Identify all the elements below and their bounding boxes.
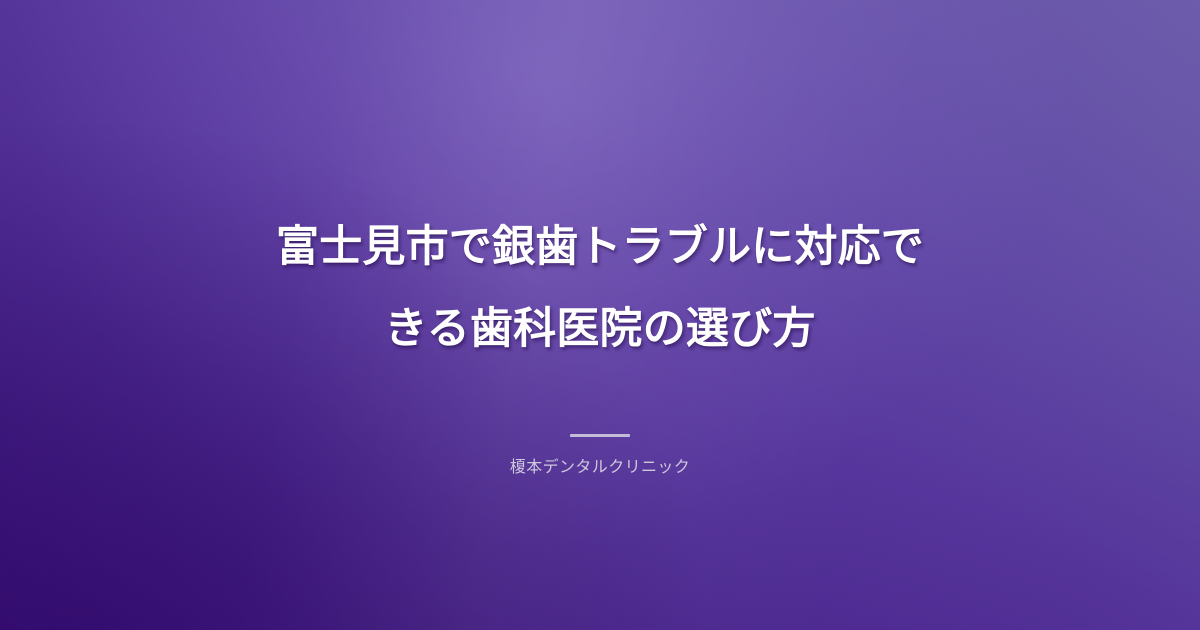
site-name: 榎本デンタルクリニック <box>510 457 690 479</box>
page-title: 富士見市で銀歯トラブルに対応で きる歯科医院の選び方 <box>200 0 1000 370</box>
page-title-line-1: 富士見市で銀歯トラブルに対応で <box>276 223 924 271</box>
page-title-line-2: きる歯科医院の選び方 <box>384 305 815 353</box>
og-card: 富士見市で銀歯トラブルに対応で きる歯科医院の選び方 榎本デンタルクリニック <box>0 0 1200 630</box>
card-footer: 榎本デンタルクリニック <box>510 434 690 479</box>
card-content: 富士見市で銀歯トラブルに対応で きる歯科医院の選び方 榎本デンタルクリニック <box>0 0 1200 630</box>
divider <box>570 434 630 437</box>
